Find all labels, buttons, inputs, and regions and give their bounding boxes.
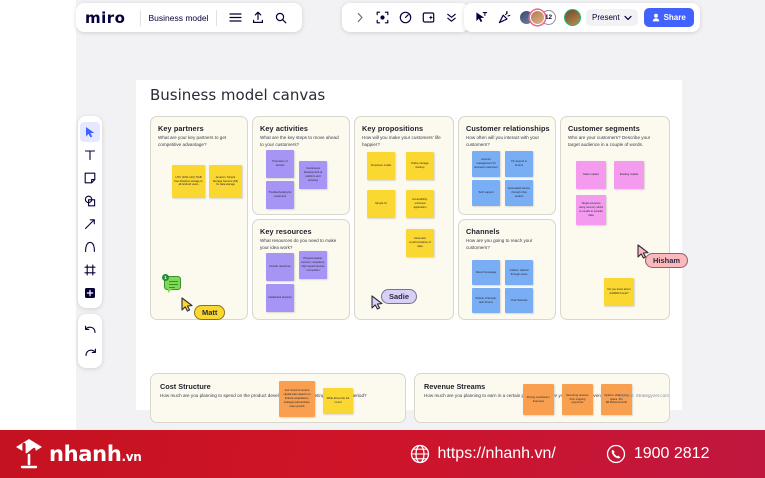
undo-button[interactable] <box>80 320 100 340</box>
frame-tool[interactable] <box>80 260 100 280</box>
source-attribution: Source: Strategyzer.com <box>619 393 669 398</box>
frames-icon[interactable] <box>373 8 392 27</box>
sticky-note[interactable]: Tech support <box>472 180 500 206</box>
card-title: Key activities <box>260 124 349 133</box>
brand-name: nhanh.vn <box>49 442 142 466</box>
top-bar-left: miro Business model <box>76 3 302 32</box>
globe-icon <box>410 444 430 464</box>
cursor-label-hisham: Hisham <box>645 253 688 268</box>
miro-app-window: Business model canvas Key partners What … <box>0 0 765 430</box>
card-key-activities[interactable]: Key activities What are the key steps to… <box>252 116 350 215</box>
card-prompt: Who are your customers? Describe your ta… <box>568 135 662 149</box>
sticky-note[interactable]: Direct homepage <box>472 260 500 285</box>
card-title: Customer segments <box>568 124 669 133</box>
sticky-note[interactable]: Online storage, backup <box>406 152 434 180</box>
left-side-strip <box>0 0 76 430</box>
brand-tld: .vn <box>121 450 141 464</box>
cursor-label-sadie: Sadie <box>381 289 417 304</box>
comment-count-badge: 1 <box>162 274 169 281</box>
sticky-note[interactable]: Do you know about AARRR funnel? <box>604 278 634 306</box>
frame-title: Business model canvas <box>150 86 325 104</box>
card-title: Customer relationships <box>466 124 555 133</box>
miro-logo[interactable]: miro <box>85 9 133 27</box>
sticky-note[interactable]: Recurring revenue from ongoing payments <box>562 384 593 415</box>
nhanh-brand[interactable]: nhanh.vn <box>14 438 142 470</box>
card-title: Key partners <box>158 124 247 133</box>
sticky-note[interactable]: Troubleshooting for customers <box>266 181 294 209</box>
sticky-note[interactable]: Freemium model <box>367 152 395 180</box>
sticky-note[interactable]: Simple UI <box>367 190 395 218</box>
present-label: Present <box>592 13 620 22</box>
sticky-note[interactable]: Options: 2GB of free space, Pro $8.25/us… <box>601 384 632 415</box>
phone-icon <box>606 444 626 464</box>
cursor-share-icon[interactable] <box>472 8 491 27</box>
select-tool[interactable] <box>80 122 100 142</box>
card-prompt: What are the key steps to move ahead to … <box>260 135 342 149</box>
sticky-note[interactable]: Promotion of service <box>266 150 294 178</box>
top-bar-right: 12 Present Share <box>464 3 700 32</box>
sticky-note[interactable]: Accessibility: universal application <box>406 190 434 218</box>
bmc-grid: Key partners What are your key partners … <box>150 116 670 366</box>
pen-tool[interactable] <box>80 237 100 257</box>
history-toolbar <box>78 314 102 368</box>
menu-icon[interactable] <box>226 8 245 27</box>
sticky-note[interactable]: Existing market <box>614 161 644 189</box>
comment-lines-icon <box>169 281 178 290</box>
more-apps-tool[interactable] <box>80 283 100 303</box>
divider <box>140 10 141 26</box>
sticky-note[interactable]: Automatic synchronisation of data <box>406 229 434 257</box>
card-key-resources[interactable]: Key resources What resources do you need… <box>252 219 350 320</box>
card-prompt: What resources do you need to make your … <box>260 238 342 252</box>
avatar[interactable] <box>530 10 545 25</box>
present-button[interactable]: Present <box>586 9 638 26</box>
card-channels[interactable]: Channels How are you going to reach your… <box>458 219 556 320</box>
sticky-note[interactable]: Pricing mechanism: freemium <box>523 384 554 415</box>
search-icon[interactable] <box>272 8 291 27</box>
sticky-note[interactable]: Target everyone using memory sticks or e… <box>576 195 606 225</box>
card-cost-structure[interactable]: Cost Structure How much are you planning… <box>150 373 406 423</box>
card-title: Channels <box>466 227 555 236</box>
share-label: Share <box>664 13 686 22</box>
cursor-matt-pointer <box>181 297 194 312</box>
sticky-note-tool[interactable] <box>80 168 100 188</box>
sticky-note[interactable]: 2nd round of venture capital was raised … <box>279 381 315 417</box>
sticky-note[interactable]: Intellectual property <box>266 284 294 312</box>
collaborator-avatars[interactable]: 12 <box>519 10 556 25</box>
sticky-note[interactable]: CX support in forums <box>505 151 533 177</box>
card-title: Key resources <box>260 227 349 236</box>
redo-button[interactable] <box>80 343 100 363</box>
sticky-note[interactable]: Continuous development of platform and s… <box>299 161 327 189</box>
banner-url[interactable]: https://nhanh.vn/ <box>410 444 556 464</box>
nhanh-logo-icon <box>14 438 44 470</box>
chevron-right-icon[interactable] <box>350 8 369 27</box>
banner-url-text: https://nhanh.vn/ <box>438 445 556 463</box>
card-prompt: How are you going to reach your customer… <box>466 238 548 252</box>
sticky-note[interactable]: Human resources <box>266 253 294 281</box>
chevron-down-icon <box>624 15 632 21</box>
card-customer-segments[interactable]: Customer segments Who are your customers… <box>560 116 670 320</box>
timer-icon[interactable] <box>396 8 415 27</box>
business-model-canvas-frame[interactable]: Business model canvas Key partners What … <box>136 80 682 410</box>
sticky-note[interactable]: Viral channels <box>505 288 533 313</box>
shapes-tool[interactable] <box>80 191 100 211</box>
chevron-double-down-icon[interactable] <box>442 8 461 27</box>
card-title: Key propositions <box>362 124 453 133</box>
card-revenue-streams[interactable]: Revenue Streams How much are you plannin… <box>414 373 670 423</box>
sticky-note[interactable]: HTC (2011-n10): 5GB free Dropbox storage… <box>172 165 205 198</box>
cursor-label-matt: Matt <box>194 305 225 320</box>
sticky-note[interactable]: Partner channels: tech forums <box>472 288 500 313</box>
sticky-note[interactable]: Indirect: referral through users <box>505 260 533 285</box>
screenshot-icon[interactable] <box>419 8 438 27</box>
top-bar-middle <box>342 3 469 32</box>
sticky-note[interactable]: Physical assets: servers, computers, hig… <box>299 251 327 279</box>
sticky-note[interactable]: Account management for business customer… <box>472 151 500 177</box>
sticky-note[interactable]: Mass market <box>576 161 606 189</box>
card-prompt: How often will you interact with your cu… <box>466 135 548 149</box>
text-tool[interactable] <box>80 145 100 165</box>
share-button[interactable]: Share <box>644 8 694 27</box>
promo-banner: nhanh.vn https://nhanh.vn/ 1900 2812 <box>0 430 765 478</box>
banner-phone[interactable]: 1900 2812 <box>606 444 710 464</box>
sticky-note[interactable]: Automated service through chat section <box>505 180 533 206</box>
upload-icon[interactable] <box>249 8 268 27</box>
sticky-note[interactable]: Amazon: Simple Storage Servers (S3) for … <box>209 165 242 198</box>
card-customer-relationships[interactable]: Customer relationships How often will yo… <box>458 116 556 215</box>
connector-arrow-tool[interactable] <box>80 214 100 234</box>
current-user-avatar[interactable] <box>564 9 581 26</box>
card-prompt: What are your key partners to get compet… <box>158 135 240 149</box>
card-prompt: How will you make your customers' life h… <box>362 135 446 149</box>
board-name-label[interactable]: Business model <box>148 13 208 23</box>
sticky-note[interactable]: What about the 1st round <box>323 388 353 414</box>
banner-phone-text: 1900 2812 <box>634 445 710 463</box>
celebrate-icon[interactable] <box>495 8 514 27</box>
divider <box>216 10 217 26</box>
left-toolbar <box>78 116 102 308</box>
person-add-icon <box>652 13 661 22</box>
comment-bubble-icon[interactable]: 1 <box>164 276 181 290</box>
